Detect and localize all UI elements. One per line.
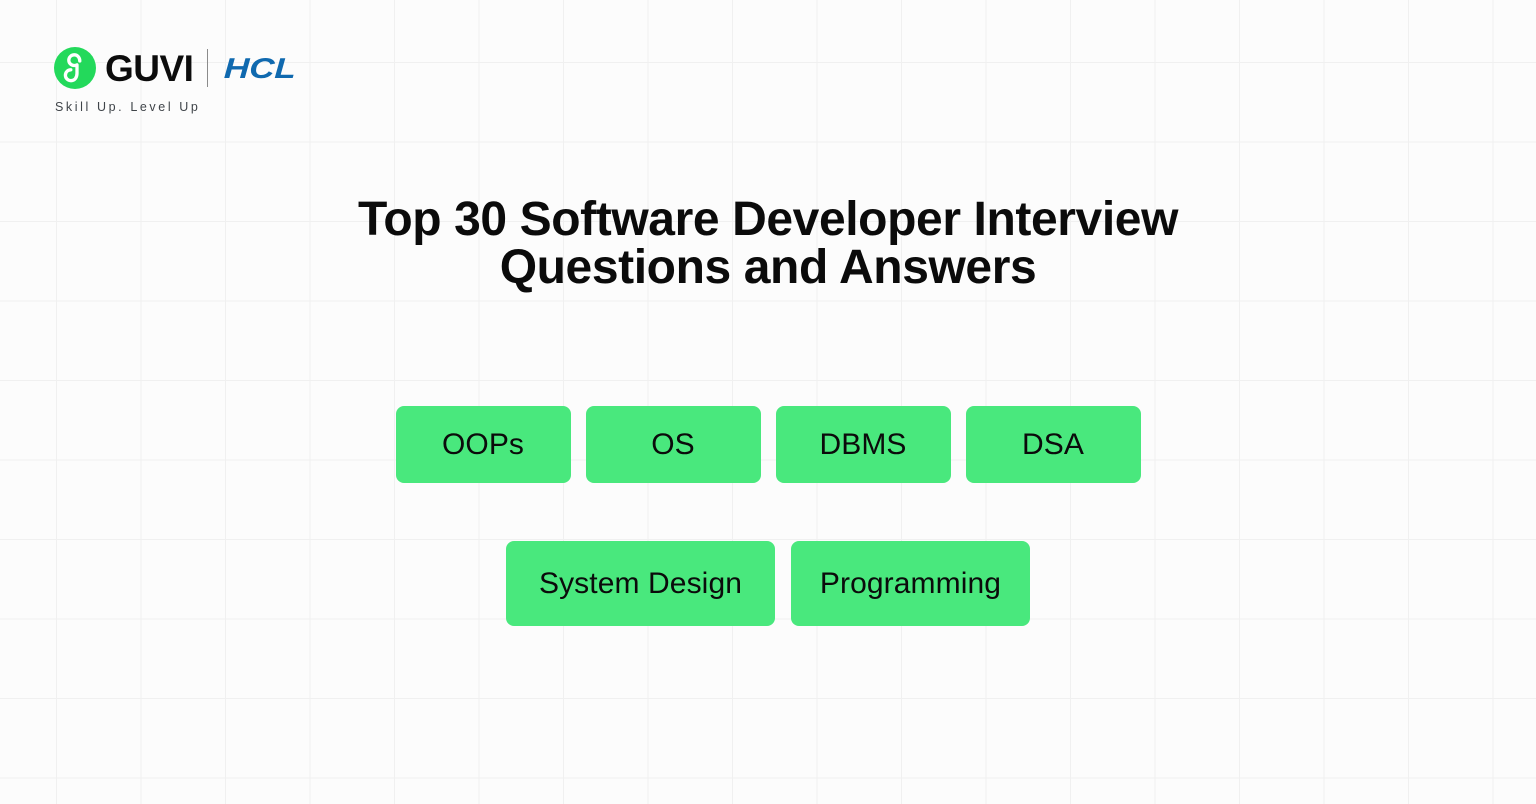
page-title-line-2: Questions and Answers — [170, 244, 1366, 292]
page-title-line-1: Top 30 Software Developer Interview — [170, 196, 1366, 244]
topic-chip-oops[interactable]: OOPs — [396, 406, 571, 483]
brand-header: GUVI HCL Skill Up. Level Up — [54, 46, 296, 114]
topic-chip-os[interactable]: OS — [586, 406, 761, 483]
topic-chip-dsa[interactable]: DSA — [966, 406, 1141, 483]
guvi-circle-g-logo-icon — [54, 47, 96, 89]
topic-chip-programming[interactable]: Programming — [791, 541, 1030, 626]
topic-chip-system-design[interactable]: System Design — [506, 541, 775, 626]
topic-chip-row-primary: OOPs OS DBMS DSA — [0, 406, 1536, 483]
slide-canvas: GUVI HCL Skill Up. Level Up Top 30 Softw… — [0, 0, 1536, 804]
page-title: Top 30 Software Developer Interview Ques… — [0, 196, 1536, 292]
hcl-wordmark: HCL — [224, 54, 297, 83]
topic-chip-dbms[interactable]: DBMS — [776, 406, 951, 483]
topic-chip-groups: OOPs OS DBMS DSA System Design Programmi… — [0, 406, 1536, 626]
guvi-wordmark: GUVI — [105, 50, 193, 87]
brand-divider — [207, 49, 208, 87]
brand-lockup: GUVI HCL — [54, 46, 296, 90]
brand-tagline: Skill Up. Level Up — [55, 101, 200, 114]
topic-chip-row-secondary: System Design Programming — [0, 541, 1536, 626]
